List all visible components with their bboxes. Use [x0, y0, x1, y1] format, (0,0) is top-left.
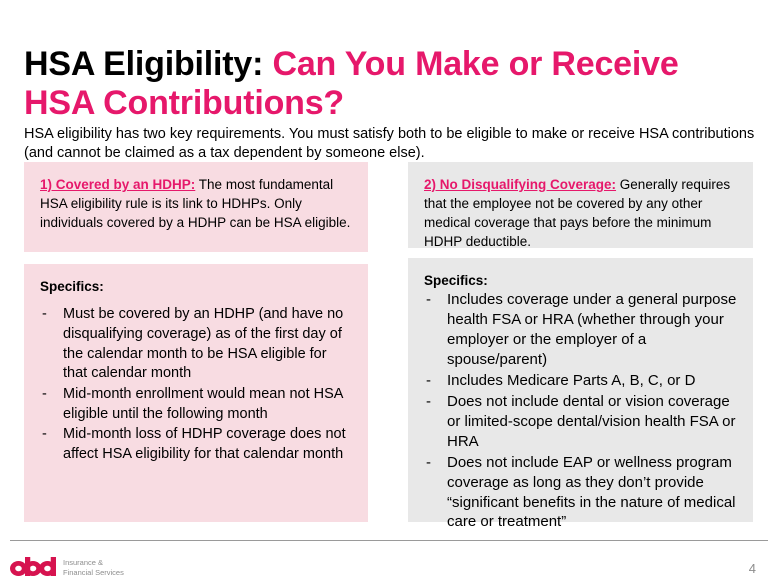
list-item-label: Mid-month loss of HDHP coverage does not… [63, 426, 346, 462]
dash-bullet-icon: - [426, 453, 431, 473]
page-subtitle: HSA eligibility has two key requirements… [24, 125, 756, 164]
requirement-two-label: 2) No Disqualifying Coverage: [424, 177, 616, 192]
list-item-label: Must be covered by an HDHP (and have no … [63, 306, 343, 381]
list-item: - Does not include dental or vision cove… [424, 392, 737, 452]
requirement-one-specifics-heading: Specifics: [40, 277, 352, 296]
dash-bullet-icon: - [426, 392, 431, 412]
list-item-label: Includes coverage under a general purpos… [447, 291, 736, 368]
list-item: - Mid-month enrollment would mean not HS… [40, 385, 352, 424]
requirement-two-specifics-heading: Specifics: [424, 271, 737, 290]
list-item: - Includes Medicare Parts A, B, C, or D [424, 371, 737, 391]
page-title-prefix: HSA Eligibility: [24, 45, 272, 83]
dash-bullet-icon: - [42, 385, 47, 405]
abd-logo-icon [10, 557, 56, 578]
list-item: - Mid-month loss of HDHP coverage does n… [40, 425, 352, 464]
list-item: - Includes coverage under a general purp… [424, 290, 737, 370]
list-item-label: Does not include dental or vision covera… [447, 393, 735, 450]
dash-bullet-icon: - [42, 305, 47, 325]
list-item: - Does not include EAP or wellness progr… [424, 453, 737, 533]
list-item-label: Includes Medicare Parts A, B, C, or D [447, 372, 695, 389]
dash-bullet-icon: - [42, 425, 47, 445]
footer-tagline-line-2: Financial Services [63, 568, 124, 577]
requirement-two-header-box: 2) No Disqualifying Coverage: Generally … [408, 162, 753, 248]
requirement-one-header-box: 1) Covered by an HDHP: The most fundamen… [24, 162, 368, 252]
list-item-label: Mid-month enrollment would mean not HSA … [63, 386, 343, 422]
requirement-one-bullet-list: - Must be covered by an HDHP (and have n… [40, 305, 352, 465]
footer-divider [10, 540, 768, 541]
page-number: 4 [749, 561, 756, 576]
footer-logo: Insurance & Financial Services [10, 557, 124, 578]
requirement-two-text: 2) No Disqualifying Coverage: Generally … [424, 175, 737, 252]
requirement-two-bullet-list: - Includes coverage under a general purp… [424, 290, 737, 532]
page-title: HSA Eligibility: Can You Make or Receive… [24, 45, 740, 124]
footer-tagline-line-1: Insurance & [63, 558, 124, 567]
dash-bullet-icon: - [426, 290, 431, 310]
requirement-one-label: 1) Covered by an HDHP: [40, 177, 195, 192]
requirement-two-specifics-box: Specifics: - Includes coverage under a g… [408, 258, 753, 522]
requirement-one-specifics-box: Specifics: - Must be covered by an HDHP … [24, 264, 368, 522]
list-item-label: Does not include EAP or wellness program… [447, 454, 736, 531]
footer-tagline: Insurance & Financial Services [63, 558, 124, 577]
list-item: - Must be covered by an HDHP (and have n… [40, 305, 352, 384]
requirement-one-text: 1) Covered by an HDHP: The most fundamen… [40, 175, 352, 232]
dash-bullet-icon: - [426, 371, 431, 391]
